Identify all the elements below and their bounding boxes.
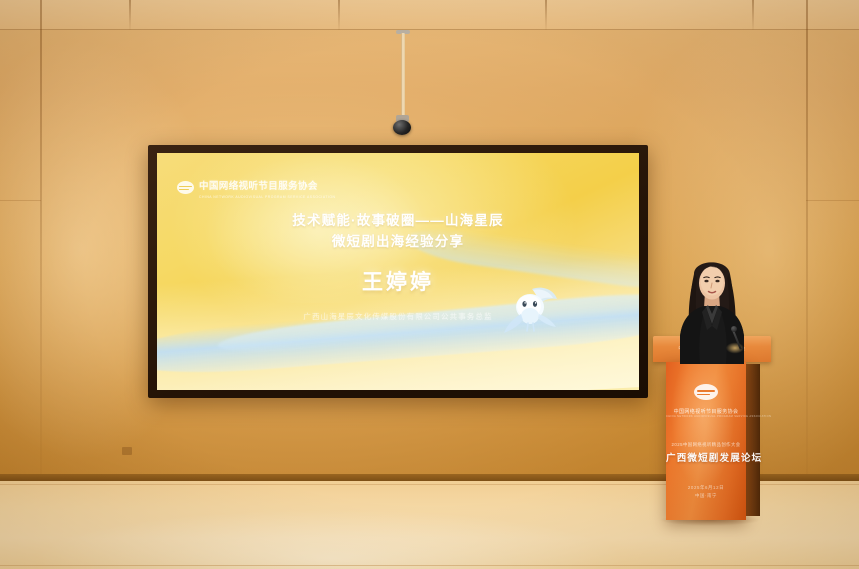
wall-panel-seam [129, 0, 131, 30]
podium-logo: 中国网络视听节目服务协会 CHINA NETWORK AUDIOVISUAL P… [666, 384, 746, 418]
globe-logo-icon [177, 181, 194, 194]
podium-front-banner: 中国网络视听节目服务协会 CHINA NETWORK AUDIOVISUAL P… [666, 362, 746, 520]
floor-seam [0, 565, 859, 566]
wall-trim-line [0, 29, 859, 30]
ceiling-camera-icon [393, 120, 411, 135]
slide-speaker-name: 王婷婷 [157, 266, 639, 296]
slide-logo-cn: 中国网络视听节目服务协会 [199, 181, 318, 192]
wall-panel-seam [806, 0, 808, 478]
conference-room-photo: 中国网络视听节目服务协会 CHINA NETWORK AUDIOVISUAL P… [0, 0, 859, 569]
led-display-screen: 中国网络视听节目服务协会 CHINA NETWORK AUDIOVISUAL P… [148, 145, 648, 398]
podium-event-subtitle: 2025中国网络视听精品创作大会 [666, 442, 746, 448]
wall-panel-seam [40, 0, 42, 478]
wall-trim-line [806, 200, 859, 201]
slide-organizer-logo: 中国网络视听节目服务协会 CHINA NETWORK AUDIOVISUAL P… [177, 176, 335, 199]
podium-event-title: 广西微短剧发展论坛 [666, 450, 746, 464]
podium-logo-en: CHINA NETWORK AUDIOVISUAL PROGRAM SERVIC… [666, 415, 746, 418]
camera-pole [401, 33, 405, 121]
slide-logo-en: CHINA NETWORK AUDIOVISUAL PROGRAM SERVIC… [199, 195, 335, 199]
slide-title-line2: 微短剧出海经验分享 [157, 232, 639, 253]
wall-panel-seam [338, 0, 340, 30]
slide-speaker-affiliation: 广西山海星辰文化传媒股份有限公司公共事务总监 [157, 311, 639, 322]
slide-title: 技术赋能·故事破圈——山海星辰 微短剧出海经验分享 [157, 211, 639, 253]
slide-logo-text: 中国网络视听节目服务协会 CHINA NETWORK AUDIOVISUAL P… [199, 176, 335, 199]
wall-panel-seam [545, 0, 547, 30]
podium-logo-cn: 中国网络视听节目服务协会 [666, 408, 746, 415]
slide-canvas: 中国网络视听节目服务协会 CHINA NETWORK AUDIOVISUAL P… [157, 153, 639, 390]
wall-trim-line [0, 200, 41, 201]
globe-logo-icon [694, 384, 718, 400]
microphone-head-icon [731, 326, 737, 332]
wall-outlet-plate [122, 447, 132, 455]
podium-date-line1: 2025年6月12日 [666, 484, 746, 492]
podium-side-panel [746, 364, 760, 516]
podium-date-line2: 中国·南宁 [666, 492, 746, 500]
slide-title-line1: 技术赋能·故事破圈——山海星辰 [292, 213, 504, 228]
podium-event-date: 2025年6月12日 中国·南宁 [666, 484, 746, 501]
lectern-light-glow [722, 340, 748, 356]
wall-panel-seam [752, 0, 754, 30]
